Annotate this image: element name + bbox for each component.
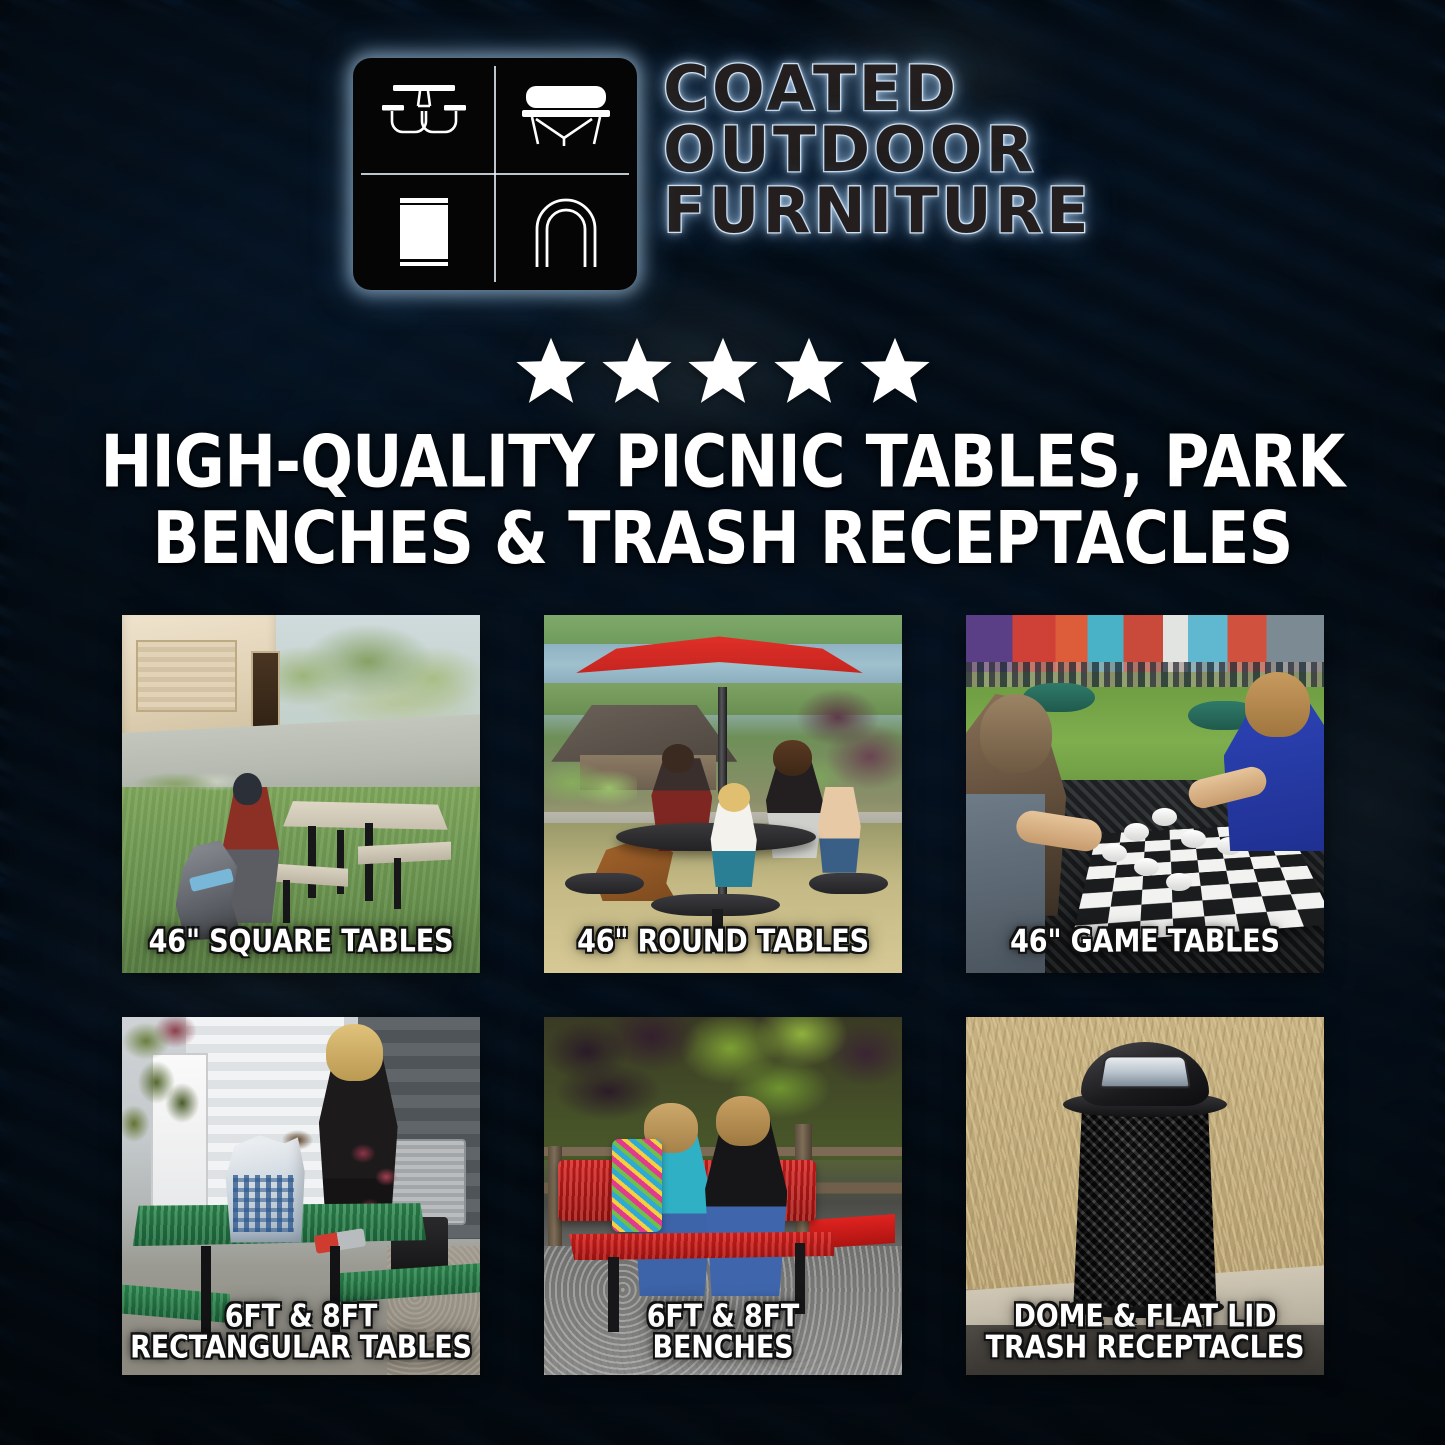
star-icon-5 — [859, 336, 931, 406]
product-tile-rectangular-tables[interactable]: 6FT & 8FT RECTANGULAR TABLES — [122, 1017, 480, 1375]
trash-receptacle-icon — [353, 174, 495, 290]
page-headline: HIGH-QUALITY PICNIC TABLES, PARK BENCHES… — [60, 424, 1385, 576]
brand-wordmark: COATED OUTDOOR FURNITURE — [663, 58, 1092, 241]
product-tile-grid: 46" SQUARE TABLES — [122, 615, 1324, 1375]
product-tile-trash-receptacles[interactable]: DOME & FLAT LID TRASH RECEPTACLES — [966, 1017, 1324, 1375]
product-tile-game-tables[interactable]: 46" GAME TABLES — [966, 615, 1324, 973]
photo-square-table-scene — [122, 615, 480, 973]
photo-game-table-scene — [966, 615, 1324, 973]
star-icon-3 — [687, 336, 759, 406]
bike-rack-icon — [495, 174, 637, 290]
brand-line-1: COATED — [663, 60, 1092, 119]
picnic-table-icon — [353, 58, 495, 174]
photo-bench-scene — [544, 1017, 902, 1375]
brand-logo: COATED OUTDOOR FURNITURE — [0, 58, 1445, 290]
photo-round-table-scene — [544, 615, 902, 973]
star-icon-1 — [515, 336, 587, 406]
product-tile-round-tables[interactable]: 46" ROUND TABLES — [544, 615, 902, 973]
photo-rectangular-table-scene — [122, 1017, 480, 1375]
promo-poster: COATED OUTDOOR FURNITURE HIGH-QUALITY PI… — [0, 0, 1445, 1445]
logo-icon-grid — [353, 58, 637, 290]
star-rating — [0, 336, 1445, 406]
product-tile-square-tables[interactable]: 46" SQUARE TABLES — [122, 615, 480, 973]
brand-line-2: OUTDOOR — [663, 121, 1092, 180]
headline-line-2: BENCHES & TRASH RECEPTACLES — [60, 500, 1385, 576]
headline-line-1: HIGH-QUALITY PICNIC TABLES, PARK — [60, 424, 1385, 500]
star-icon-2 — [601, 336, 673, 406]
star-icon-4 — [773, 336, 845, 406]
bench-icon — [495, 58, 637, 174]
brand-line-3: FURNITURE — [663, 182, 1092, 241]
photo-trash-receptacle-scene — [966, 1017, 1324, 1375]
product-tile-benches[interactable]: 6FT & 8FT BENCHES — [544, 1017, 902, 1375]
